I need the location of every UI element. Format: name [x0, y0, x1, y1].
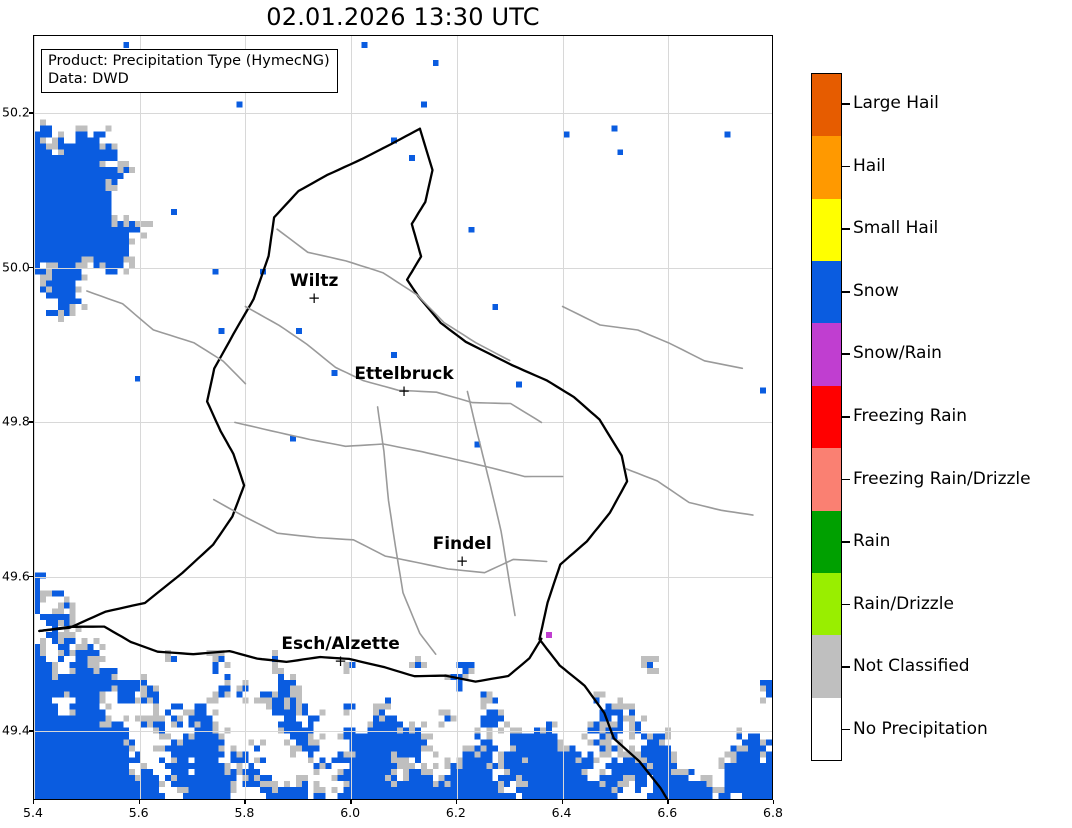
legend-swatch-freezing-rain[interactable] [812, 386, 841, 448]
legend-label: Small Hail [853, 218, 938, 239]
product-line: Product: Precipitation Type (HymecNG) [48, 53, 330, 71]
region-border-3 [235, 422, 563, 476]
legend-swatch-not-classified[interactable] [812, 635, 841, 697]
map-plot-area[interactable]: Product: Precipitation Type (HymecNG) Da… [33, 35, 773, 800]
legend-tick [842, 353, 850, 355]
weather-map-figure: 02.01.2026 13:30 UTC Product: Precipitat… [0, 0, 1072, 828]
x-axis-tick [33, 800, 34, 804]
x-axis-tick-label: 6.2 [446, 805, 466, 820]
x-axis-tick-label: 6.8 [763, 805, 783, 820]
legend-label: Large Hail [853, 93, 939, 114]
legend-label: Hail [853, 156, 886, 177]
y-axis-tick-label: 50.0 [2, 259, 28, 274]
legend-colorbar [811, 73, 842, 761]
region-border-2 [245, 307, 541, 423]
region-border-9 [626, 469, 753, 515]
y-axis-tick-label: 49.4 [2, 723, 28, 738]
region-border-7 [87, 291, 246, 384]
x-axis-tick-label: 6.0 [340, 805, 360, 820]
legend-label: No Precipitation [853, 719, 988, 740]
x-axis-tick-label: 5.6 [129, 805, 149, 820]
legend-swatch-hail[interactable] [812, 136, 841, 198]
legend-label: Rain/Drizzle [853, 594, 954, 615]
legend-label: Snow [853, 281, 899, 302]
x-axis-tick [773, 800, 774, 804]
legend-tick [842, 541, 850, 543]
country-border-south [39, 627, 541, 682]
legend-tick [842, 103, 850, 105]
y-axis-tick-label: 49.6 [2, 568, 28, 583]
x-axis-tick-label: 5.4 [23, 805, 43, 820]
x-axis-tick-label: 6.6 [657, 805, 677, 820]
legend-tick [842, 416, 850, 418]
x-axis-tick-label: 5.8 [234, 805, 254, 820]
legend-swatch-no-precipitation[interactable] [812, 698, 841, 760]
legend-label: Not Classified [853, 656, 970, 677]
product-info-box: Product: Precipitation Type (HymecNG) Da… [41, 49, 338, 93]
region-border-1 [277, 229, 510, 360]
region-border-6 [467, 392, 515, 616]
x-axis-tick [350, 800, 351, 804]
country-border-east [407, 129, 668, 800]
legend-swatch-small-hail[interactable] [812, 199, 841, 261]
y-axis-tick-label: 49.8 [2, 414, 28, 429]
legend-swatch-rain-drizzle[interactable] [812, 573, 841, 635]
legend-swatch-freezing-rain-drizzle[interactable] [812, 448, 841, 510]
legend-swatch-rain[interactable] [812, 511, 841, 573]
legend-tick [842, 479, 850, 481]
legend-label: Freezing Rain [853, 406, 967, 427]
legend-tick [842, 291, 850, 293]
legend-tick [842, 228, 850, 230]
legend-label: Freezing Rain/Drizzle [853, 469, 1031, 490]
legend-label: Snow/Rain [853, 343, 942, 364]
legend-swatch-snow-rain[interactable] [812, 323, 841, 385]
legend-swatch-snow[interactable] [812, 261, 841, 323]
y-axis-tick-label: 50.2 [2, 105, 28, 120]
data-source-line: Data: DWD [48, 71, 330, 89]
map-vector-overlay [34, 36, 772, 799]
legend-tick [842, 729, 850, 731]
legend-tick [842, 604, 850, 606]
borders-svg [34, 36, 773, 800]
region-border-8 [563, 307, 743, 369]
legend-label: Rain [853, 531, 890, 552]
legend-tick [842, 666, 850, 668]
x-axis-tick [139, 800, 140, 804]
legend-swatch-large-hail[interactable] [812, 74, 841, 136]
legend-tick [842, 166, 850, 168]
figure-title: 02.01.2026 13:30 UTC [0, 2, 806, 32]
x-axis-tick [456, 800, 457, 804]
x-axis-tick [667, 800, 668, 804]
x-axis-tick-label: 6.4 [552, 805, 572, 820]
x-axis-tick [244, 800, 245, 804]
x-axis-tick [562, 800, 563, 804]
